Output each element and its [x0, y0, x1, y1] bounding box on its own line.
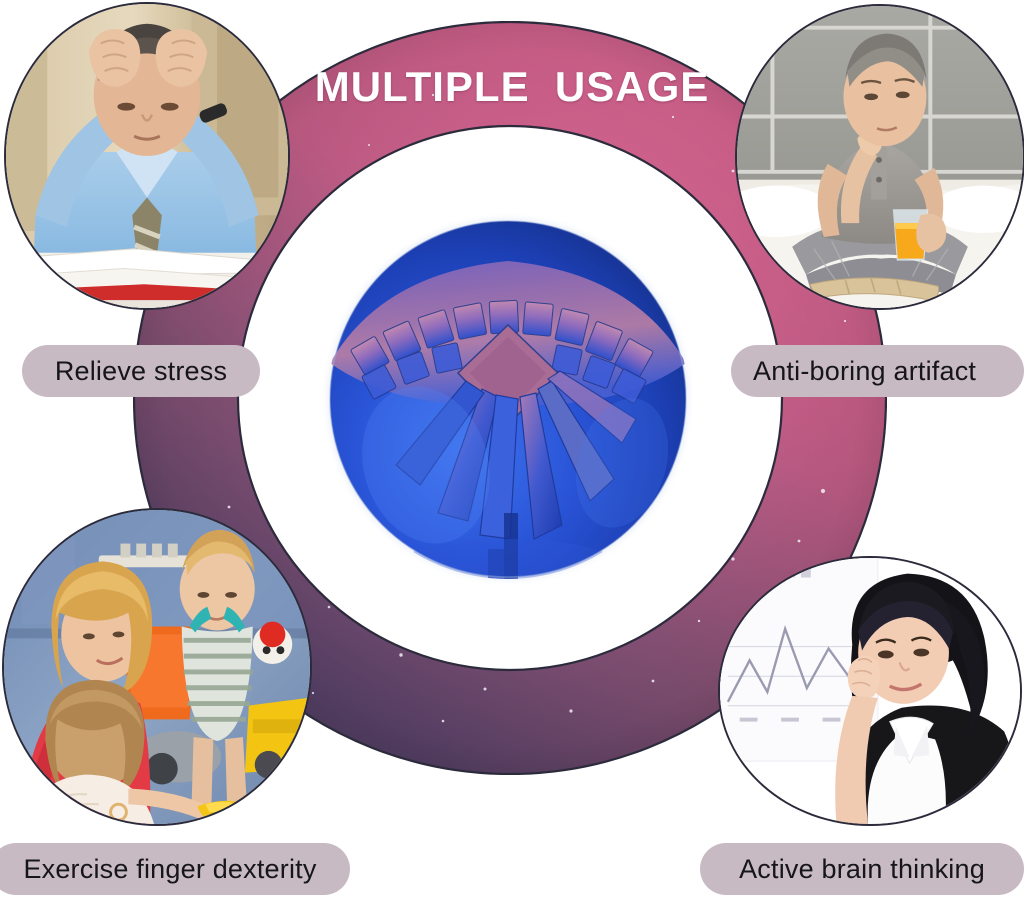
- photo-stressed-office-man: [4, 2, 290, 310]
- photo-mother-and-children-playing: [2, 508, 312, 826]
- photo-thinking-woman-at-whiteboard: [718, 556, 1022, 826]
- photo-bored-man-on-bed: [735, 4, 1024, 310]
- caption-anti-boring-artifact: Anti-boring artifact: [731, 345, 1024, 397]
- infographic-canvas: MULTIPLE USAGE: [0, 0, 1024, 901]
- caption-relieve-stress: Relieve stress: [22, 345, 260, 397]
- caption-active-brain-thinking: Active brain thinking: [700, 843, 1024, 895]
- caption-exercise-finger-dexterity: Exercise finger dexterity: [0, 843, 350, 895]
- gear-fidget-ball-image: [322, 213, 694, 585]
